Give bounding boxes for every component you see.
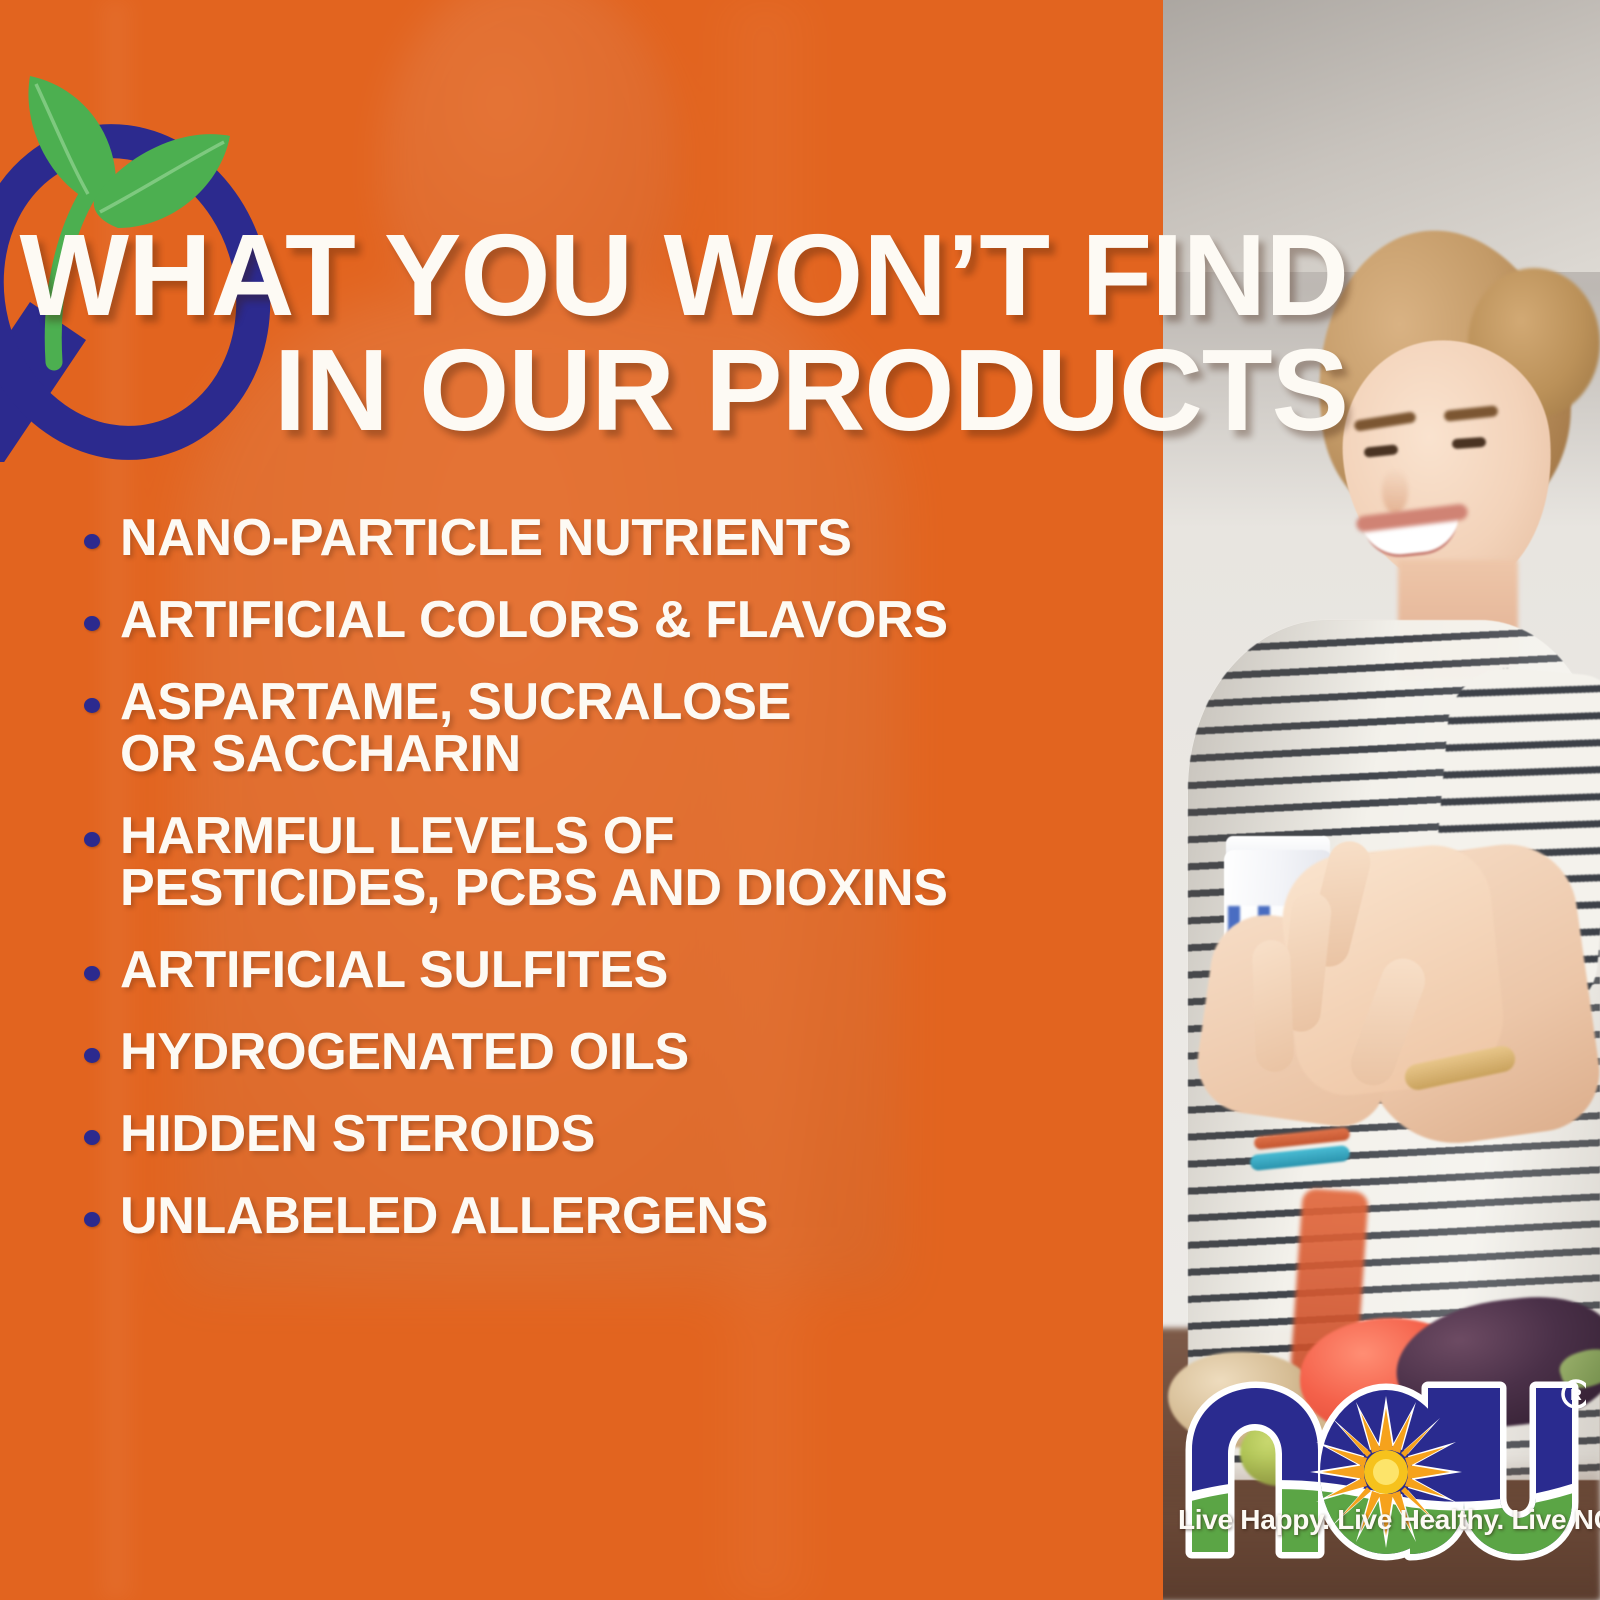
- list-item-line: HIDDEN STEROIDS: [120, 1108, 1154, 1160]
- list-item-line: OR SACCHARIN: [120, 728, 1154, 780]
- excluded-ingredients-list: NANO-PARTICLE NUTRIENTS ARTIFICIAL COLOR…: [74, 512, 1154, 1272]
- list-item: HARMFUL LEVELS OF PESTICIDES, PCBS AND D…: [74, 810, 1154, 914]
- list-item-line: HARMFUL LEVELS OF: [120, 810, 1154, 862]
- list-item: ARTIFICIAL SULFITES: [74, 944, 1154, 996]
- list-item-line: UNLABELED ALLERGENS: [120, 1190, 1154, 1242]
- finger-3: [1252, 939, 1295, 1072]
- list-item: HIDDEN STEROIDS: [74, 1108, 1154, 1160]
- list-item: HYDROGENATED OILS: [74, 1026, 1154, 1078]
- nose: [1382, 468, 1408, 514]
- list-item-line: PESTICIDES, PCBS AND DIOXINS: [120, 862, 1154, 914]
- list-item-line: NANO-PARTICLE NUTRIENTS: [120, 512, 1154, 564]
- headline-suffix: FIND: [1050, 210, 1348, 340]
- now-foods-logo: R: [1178, 1372, 1586, 1572]
- bullet-dot-icon: [84, 966, 100, 981]
- bullet-dot-icon: [84, 1130, 100, 1145]
- list-item-line: ARTIFICIAL COLORS & FLAVORS: [120, 594, 1154, 646]
- bullet-dot-icon: [84, 616, 100, 631]
- list-item: UNLABELED ALLERGENS: [74, 1190, 1154, 1242]
- bullet-dot-icon: [84, 534, 100, 549]
- headline-emphasis: WON’T: [664, 210, 1051, 340]
- list-item-line: HYDROGENATED OILS: [120, 1026, 1154, 1078]
- list-item: NANO-PARTICLE NUTRIENTS: [74, 512, 1154, 564]
- list-item-line: ARTIFICIAL SULFITES: [120, 944, 1154, 996]
- brand-tagline: Live Happy. Live Healthy. Live NOW.: [1178, 1504, 1586, 1536]
- headline-line-2: IN OUR PRODUCTS: [0, 333, 1348, 448]
- page-title: WHAT YOU WON’T FIND IN OUR PRODUCTS: [0, 218, 1420, 448]
- bullet-dot-icon: [84, 1048, 100, 1063]
- bullet-dot-icon: [84, 832, 100, 847]
- bullet-dot-icon: [84, 1212, 100, 1227]
- headline-prefix: WHAT YOU: [20, 210, 664, 340]
- bullet-dot-icon: [84, 698, 100, 713]
- svg-text:R: R: [1570, 1387, 1582, 1404]
- headline-line-1: WHAT YOU WON’T FIND: [0, 218, 1348, 333]
- list-item-line: ASPARTAME, SUCRALOSE: [120, 676, 1154, 728]
- poster: WHAT YOU WON’T FIND IN OUR PRODUCTS NANO…: [0, 0, 1600, 1600]
- list-item: ARTIFICIAL COLORS & FLAVORS: [74, 594, 1154, 646]
- list-item: ASPARTAME, SUCRALOSE OR SACCHARIN: [74, 676, 1154, 780]
